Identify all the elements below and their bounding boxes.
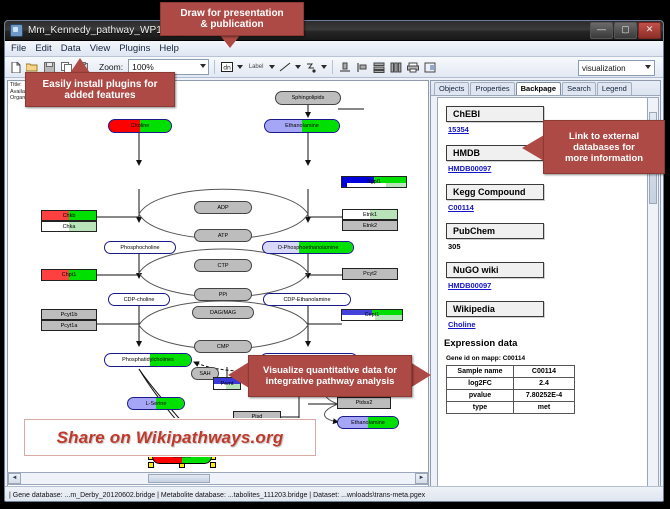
menu-item-data[interactable]: Data [61, 43, 81, 54]
gene-pcyt1b[interactable]: Pcyt1b [41, 309, 97, 320]
metabolite-cdp-ethanolamine[interactable]: CDP-Ethanolamine [263, 293, 351, 306]
gene-pcyt1a[interactable]: Pcyt1a [41, 320, 97, 331]
line-dropdown-icon[interactable] [295, 65, 301, 69]
db-link-wikipedia[interactable]: Choline [448, 320, 654, 329]
metabolite-ppi[interactable]: PPi [194, 288, 252, 301]
metabolite-ethanolamine-top[interactable]: Ethanolamine [264, 119, 340, 133]
status-text: | Gene database: ...m_Derby_20120602.bri… [5, 492, 425, 499]
node-label: Choline [131, 123, 150, 129]
distribute-icon[interactable] [389, 60, 403, 74]
metabolite-ctp[interactable]: CTP [194, 259, 252, 272]
line-icon[interactable] [278, 60, 292, 74]
expression-gene-id: Gene id on mapp: C00114 [446, 355, 654, 362]
zoom-value: 100% [132, 62, 154, 72]
callout-plugins-line1: Easily install plugins for [42, 79, 157, 90]
toolbar-separator-2 [332, 60, 333, 74]
screenshot-root: Mm_Kennedy_pathway_WP1771_45176.gpml — ▢… [0, 0, 670, 509]
db-name-chebi: ChEBI [446, 106, 544, 122]
node-label: PPi [219, 292, 228, 298]
node-label: CTP [218, 263, 229, 269]
metabolite-sphingolipids[interactable]: Sphingolipids [275, 91, 341, 105]
table-row: pvalue 7.80252E-4 [447, 390, 575, 402]
db-link-kegg[interactable]: C00114 [448, 203, 654, 212]
callout-links-line1: Link to external [569, 131, 639, 142]
callout-links: Link to external databases for more info… [543, 120, 665, 174]
callout-visualize-arrow-left [228, 362, 249, 388]
callout-visualize: Visualize quantitative data for integrat… [248, 355, 412, 397]
minimize-button[interactable]: — [590, 22, 613, 39]
metabolite-cdp-choline[interactable]: CDP-choline [108, 293, 170, 306]
node-label: Sgpl1 [367, 179, 381, 185]
menu-item-help[interactable]: Help [159, 43, 179, 54]
gene-chpt1[interactable]: Chpt1 [41, 269, 97, 281]
menu-item-edit[interactable]: Edit [35, 43, 51, 54]
label-icon[interactable]: Label [246, 60, 266, 74]
layout-icon[interactable] [423, 60, 437, 74]
menu-item-view[interactable]: View [90, 43, 110, 54]
expr-key-sample: Sample name [447, 366, 514, 378]
scroll-left-icon[interactable]: ◄ [8, 473, 21, 484]
expr-val-log2fc: 2.4 [514, 378, 575, 390]
visualization-value: visualization [582, 64, 626, 73]
menu-item-plugins[interactable]: Plugins [119, 43, 150, 54]
gene-etnk1[interactable]: Etnk1 [342, 209, 398, 220]
db-name-kegg: Kegg Compound [446, 184, 544, 200]
menu-bar: File Edit Data View Plugins Help [5, 41, 663, 57]
visualization-combobox[interactable]: visualization [578, 60, 655, 76]
metabolite-phosphocholine[interactable]: Phosphocholine [104, 241, 176, 254]
metabolite-cmp[interactable]: CMP [194, 340, 252, 353]
callout-plugins-arrow [70, 58, 90, 73]
expr-key-log2fc: log2FC [447, 378, 514, 390]
chevron-down-icon[interactable] [200, 64, 206, 68]
callout-share-text: Share on Wikipathways.org [57, 428, 284, 448]
db-link-nugo[interactable]: HMDB00097 [448, 281, 654, 290]
node-label: Ethanolamine [285, 123, 319, 129]
anchor-dropdown-icon[interactable] [321, 65, 327, 69]
db-block-nugo: NuGO wiki HMDB00097 [446, 260, 654, 290]
canvas-hscrollbar[interactable]: ◄ ► [7, 472, 429, 485]
callout-visualize-line1: Visualize quantitative data for [263, 365, 397, 376]
expr-key-pvalue: pvalue [447, 390, 514, 402]
callout-links-arrow [522, 135, 544, 161]
status-bar: | Gene database: ...m_Derby_20120602.bri… [5, 486, 663, 502]
callout-draw: Draw for presentation & publication [160, 2, 304, 36]
node-label: Etnk2 [363, 223, 377, 229]
callout-draw-arrow [219, 34, 241, 48]
callout-visualize-line2: integrative pathway analysis [266, 376, 395, 387]
node-label: Pcyt1b [61, 312, 78, 318]
datanode-dropdown-icon[interactable] [237, 65, 243, 69]
side-panel-tabs: Objects Properties Backpage Search Legen… [431, 81, 660, 96]
node-label: Pcyt2 [363, 271, 377, 277]
close-button[interactable]: ✕ [638, 22, 661, 39]
table-row: type met [447, 402, 575, 414]
db-block-wikipedia: Wikipedia Choline [446, 299, 654, 329]
callout-links-line3: more information [565, 153, 643, 164]
anchor-icon[interactable] [304, 60, 318, 74]
db-value-pubchem: 305 [448, 242, 654, 251]
node-label: L-Serine [146, 401, 167, 407]
node-label: Chka [63, 224, 76, 230]
metabolite-dag-mag[interactable]: DAG/MAG [192, 306, 254, 319]
scrollbar-thumb-h[interactable] [148, 474, 210, 483]
callout-plugins-line2: added features [64, 90, 135, 101]
db-block-kegg: Kegg Compound C00114 [446, 182, 654, 212]
label-dropdown-icon[interactable] [269, 65, 275, 69]
metabolite-phosphatidylcholines[interactable]: Phosphatidylcholines [104, 353, 192, 367]
node-label: CDP-Ethanolamine [283, 297, 330, 303]
gene-etnk2[interactable]: Etnk2 [342, 220, 398, 231]
menu-item-file[interactable]: File [11, 43, 26, 54]
node-label: Phosphatidylcholines [122, 357, 174, 363]
node-label: CMP [217, 344, 229, 350]
gene-ptdss2[interactable]: Ptdss2 [337, 397, 391, 409]
chevron-down-icon-vis[interactable] [645, 65, 651, 69]
expression-table: Sample name C00114 log2FC 2.4 pvalue 7.8… [446, 365, 575, 414]
db-name-nugo: NuGO wiki [446, 262, 544, 278]
scroll-right-icon[interactable]: ► [415, 473, 428, 484]
tab-objects[interactable]: Objects [434, 82, 469, 95]
metabolite-l-serine-left[interactable]: L-Serine [127, 397, 185, 410]
db-name-pubchem: PubChem [446, 223, 544, 239]
metabolite-o-phosphoethanolamine[interactable]: O-Phosphoethanolamine [262, 241, 354, 254]
node-label: Pcyt1a [61, 323, 78, 329]
tab-properties[interactable]: Properties [470, 82, 514, 95]
gene-chka[interactable]: Chka [41, 221, 97, 232]
tab-backpage[interactable]: Backpage [516, 82, 561, 95]
zoom-label: Zoom: [99, 62, 123, 72]
expr-val-pvalue: 7.80252E-4 [514, 390, 575, 402]
expr-val-type: met [514, 402, 575, 414]
node-label: DAG/MAG [210, 310, 236, 316]
toolbar-separator [214, 60, 215, 74]
node-label: Ethanolamine [351, 420, 385, 426]
metabolite-ethanolamine-bottom[interactable]: Ethanolamine [337, 416, 399, 429]
callout-links-line2: databases for [573, 142, 635, 153]
callout-draw-line1: Draw for presentation [180, 8, 283, 19]
svg-text:dn: dn [223, 65, 231, 72]
node-label: Phosphocholine [120, 245, 159, 251]
gene-sgpl1[interactable]: Sgpl1 [341, 176, 407, 188]
expr-key-type: type [447, 402, 514, 414]
node-label: SAH [199, 371, 210, 377]
gene-chkb[interactable]: Chkb [41, 210, 97, 221]
callout-plugins: Easily install plugins for added feature… [25, 72, 175, 107]
table-row: log2FC 2.4 [447, 378, 575, 390]
node-label: Chkb [63, 213, 76, 219]
db-block-pubchem: PubChem 305 [446, 221, 654, 251]
print-icon[interactable] [406, 60, 420, 74]
node-label: Sphingolipids [292, 95, 325, 101]
node-label: O-Phosphoethanolamine [278, 245, 339, 251]
gene-cept1[interactable]: Cept1 [341, 309, 403, 321]
db-name-wikipedia: Wikipedia [446, 301, 544, 317]
node-label: CDP-choline [124, 297, 155, 303]
app-icon [10, 24, 23, 37]
callout-visualize-arrow-right [410, 362, 431, 388]
align-bottom-icon[interactable] [338, 60, 352, 74]
title-bar: Mm_Kennedy_pathway_WP1771_45176.gpml — ▢… [5, 21, 663, 41]
tab-search[interactable]: Search [562, 82, 596, 95]
datanode-icon[interactable]: dn [220, 60, 234, 74]
new-file-icon[interactable] [8, 60, 22, 74]
metabolite-adp[interactable]: ADP [194, 201, 252, 214]
node-label: Cept1 [365, 312, 380, 318]
tab-legend[interactable]: Legend [597, 82, 632, 95]
expression-data-heading: Expression data [444, 338, 654, 349]
callout-share: Share on Wikipathways.org [24, 419, 316, 456]
metabolite-choline-top[interactable]: Choline [108, 119, 172, 133]
gene-pcyt2[interactable]: Pcyt2 [342, 268, 398, 280]
node-label: Etnk1 [363, 212, 377, 218]
node-label: ATP [218, 233, 228, 239]
stack-icon[interactable] [372, 60, 386, 74]
table-row: Sample name C00114 [447, 366, 575, 378]
window-controls[interactable]: — ▢ ✕ [590, 22, 661, 39]
node-label: Ptdss2 [356, 400, 373, 406]
align-left-icon[interactable] [355, 60, 369, 74]
node-label: Chpt1 [62, 272, 77, 278]
node-label: ADP [217, 205, 228, 211]
expr-val-sample: C00114 [514, 366, 575, 378]
callout-draw-line2: & publication [200, 19, 263, 30]
maximize-button[interactable]: ▢ [614, 22, 637, 39]
metabolite-atp[interactable]: ATP [194, 229, 252, 242]
